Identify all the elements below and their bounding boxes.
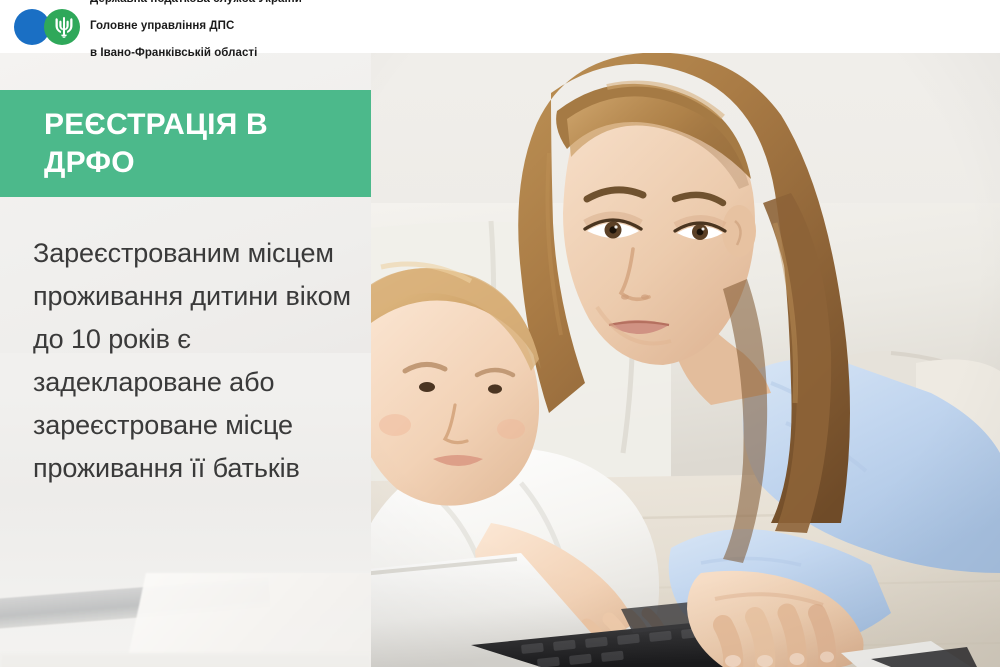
agency-logo [14,9,82,45]
hero-photo [371,53,1000,667]
hero-photo-illustration [371,53,1000,667]
agency-name-line-3: в Івано-Франківській області [90,47,302,61]
agency-name-line-2: Головне управління ДПС [90,20,302,34]
agency-name-line-1: Державна податкова служба України [90,0,302,6]
infographic-page: Державна податкова служба України Головн… [0,0,1000,667]
left-panel-desk-wash [0,653,371,667]
banner-title: РЕЄСТРАЦІЯ В ДРФО [0,106,371,182]
ukraine-trident-icon [55,16,73,38]
agency-name: Державна податкова служба України Головн… [90,0,302,74]
page-header: Державна податкова служба України Головн… [0,0,1000,53]
title-banner: РЕЄСТРАЦІЯ В ДРФО [0,90,371,197]
body-paragraph: Зареєстрованим місцем проживання дитини … [33,232,373,490]
